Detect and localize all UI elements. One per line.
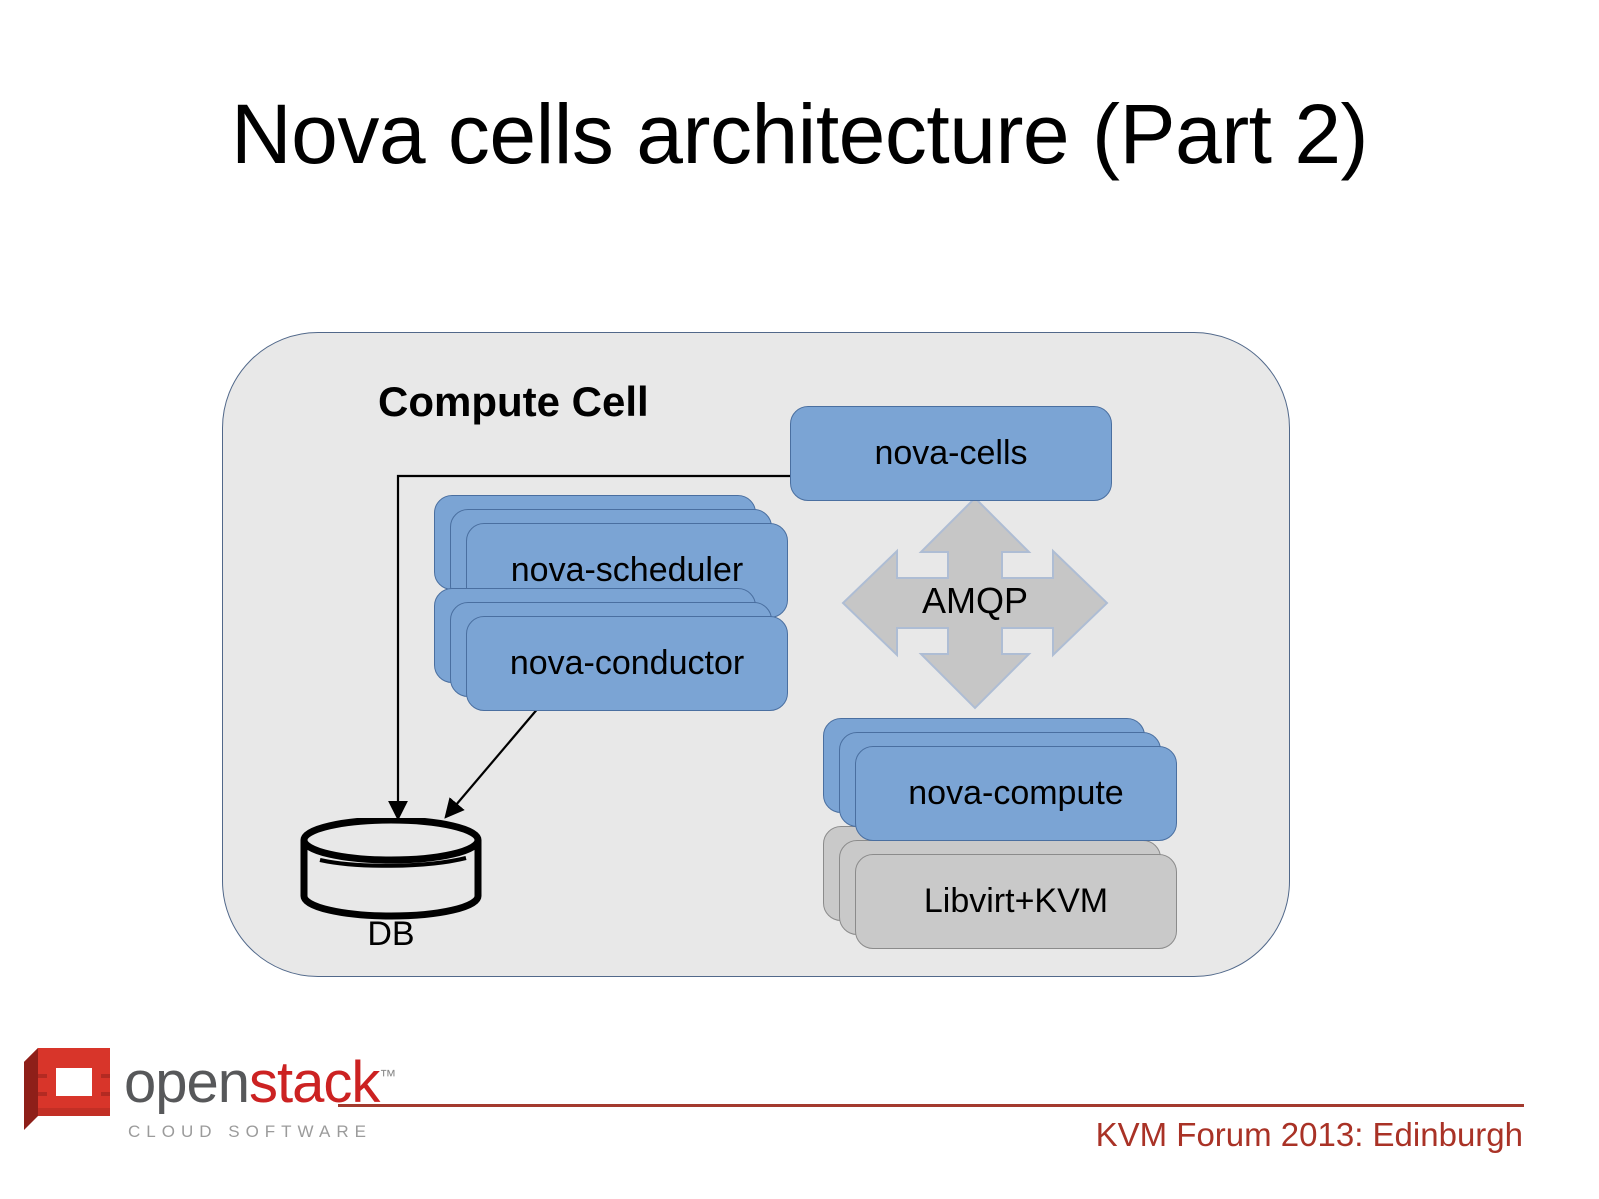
node-nova-cells-label: nova-cells (874, 434, 1027, 473)
footer-divider (338, 1104, 1524, 1107)
nova-cells-architecture-diagram: Compute Cell AMQP nova-cells nova-schedu… (0, 0, 1599, 1010)
node-nova-conductor[interactable]: nova-conductor (434, 588, 794, 713)
node-nova-compute-label: nova-compute (908, 774, 1123, 813)
node-nova-compute[interactable]: nova-compute (823, 718, 1183, 843)
footer-text: KVM Forum 2013: Edinburgh (1096, 1116, 1523, 1154)
node-libvirt-kvm-layer-front: Libvirt+KVM (855, 854, 1177, 949)
compute-cell-label: Compute Cell (378, 378, 649, 426)
openstack-logo: openstack™ CLOUD SOFTWARE (18, 1036, 338, 1161)
node-nova-cells-label-box: nova-cells (790, 406, 1112, 501)
node-libvirt-kvm[interactable]: Libvirt+KVM (823, 826, 1183, 951)
node-nova-compute-layer-front: nova-compute (855, 746, 1177, 841)
openstack-word-open: open (124, 1050, 249, 1115)
node-nova-conductor-layer-front: nova-conductor (466, 616, 788, 711)
openstack-tagline: CLOUD SOFTWARE (128, 1122, 372, 1142)
openstack-mark-icon (18, 1040, 114, 1136)
trademark-symbol: ™ (379, 1067, 395, 1086)
database-label: DB (296, 915, 486, 954)
node-libvirt-kvm-label: Libvirt+KVM (924, 882, 1108, 921)
database-cylinder-icon (296, 818, 486, 978)
amqp-label: AMQP (795, 580, 1155, 622)
node-nova-conductor-label: nova-conductor (510, 644, 744, 683)
node-nova-scheduler-label: nova-scheduler (511, 551, 743, 590)
node-nova-cells[interactable]: nova-cells (790, 406, 1112, 501)
